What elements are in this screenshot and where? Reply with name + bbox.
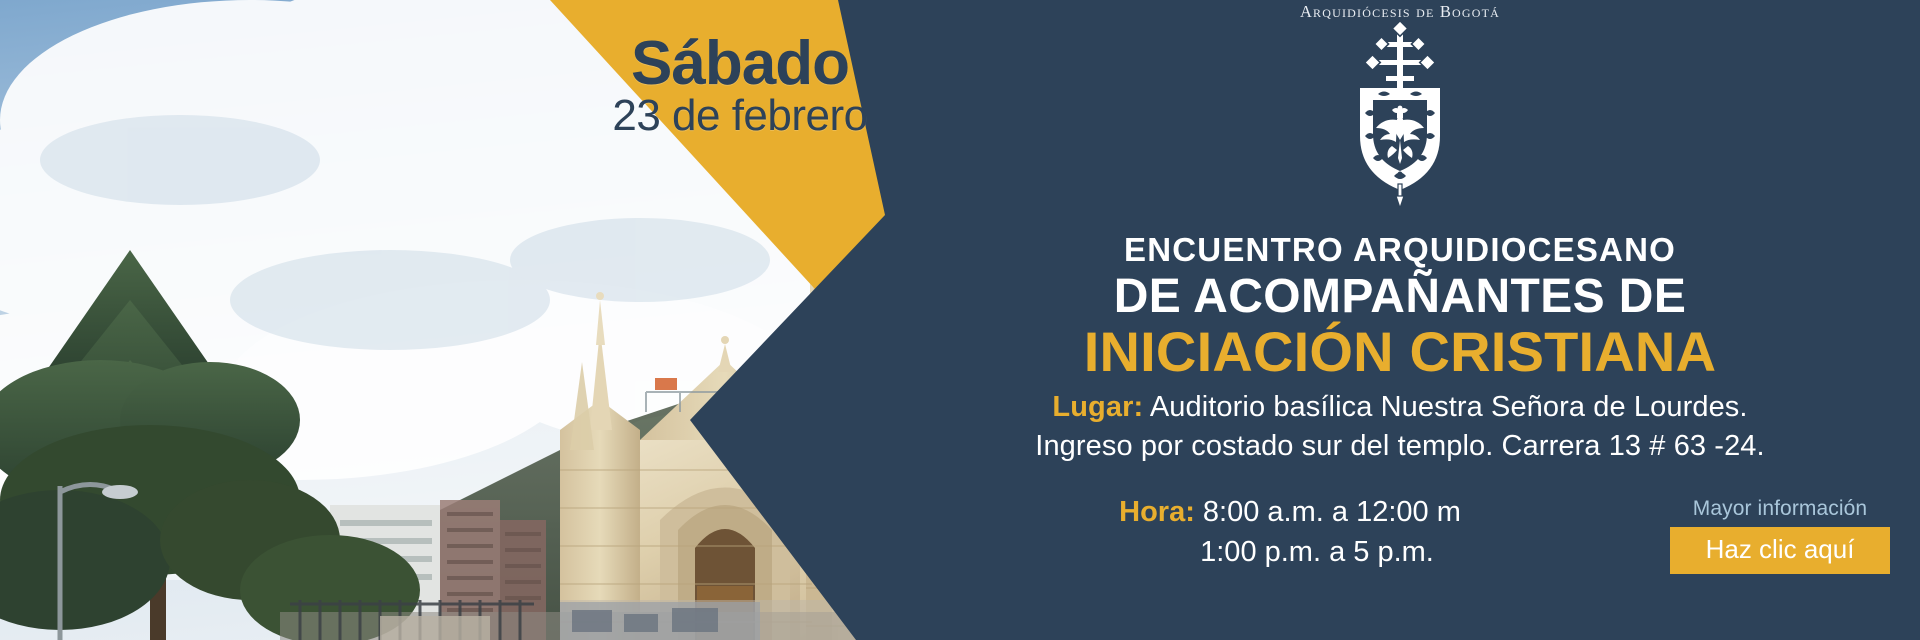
headline-block: ENCUENTRO ARQUIDIOCESANO DE ACOMPAÑANTES… <box>880 232 1920 383</box>
event-banner: Sábado 23 de febrero <box>0 0 1920 640</box>
time-label: Hora: <box>1119 496 1195 528</box>
time-line-1: Hora: 8:00 a.m. a 12:00 m <box>880 492 1700 532</box>
place-block: Lugar: Auditorio basílica Nuestra Señora… <box>880 388 1920 466</box>
time-value: 8:00 a.m. a 12:00 m <box>1203 496 1461 528</box>
time-block: Hora: 8:00 a.m. a 12:00 m 1:00 p.m. a 5 … <box>880 492 1700 572</box>
place-label: Lugar: <box>1052 391 1143 423</box>
place-value: Auditorio basílica Nuestra Señora de Lou… <box>1150 391 1748 423</box>
info-content: Arquidiócesis de Bogotá ENCUENTRO ARQUID… <box>880 0 1920 640</box>
date-day-label: Sábado <box>560 34 920 95</box>
cta-block: Mayor información Haz clic aquí <box>1670 496 1890 574</box>
time-line-2: 1:00 p.m. a 5 p.m. <box>880 532 1700 572</box>
haz-clic-aqui-button[interactable]: Haz clic aquí <box>1670 527 1890 574</box>
headline-line-3: INICIACIÓN CRISTIANA <box>880 321 1920 383</box>
date-badge: Sábado 23 de febrero <box>560 34 920 139</box>
archdiocese-coat-of-arms-icon <box>1340 18 1460 208</box>
place-line-1: Lugar: Auditorio basílica Nuestra Señora… <box>880 388 1920 427</box>
headline-line-1: ENCUENTRO ARQUIDIOCESANO <box>880 232 1920 268</box>
date-date-label: 23 de febrero <box>560 93 920 139</box>
place-line-2: Ingreso por costado sur del templo. Carr… <box>880 427 1920 466</box>
cta-note: Mayor información <box>1670 496 1890 522</box>
headline-line-2: DE ACOMPAÑANTES DE <box>880 270 1920 324</box>
